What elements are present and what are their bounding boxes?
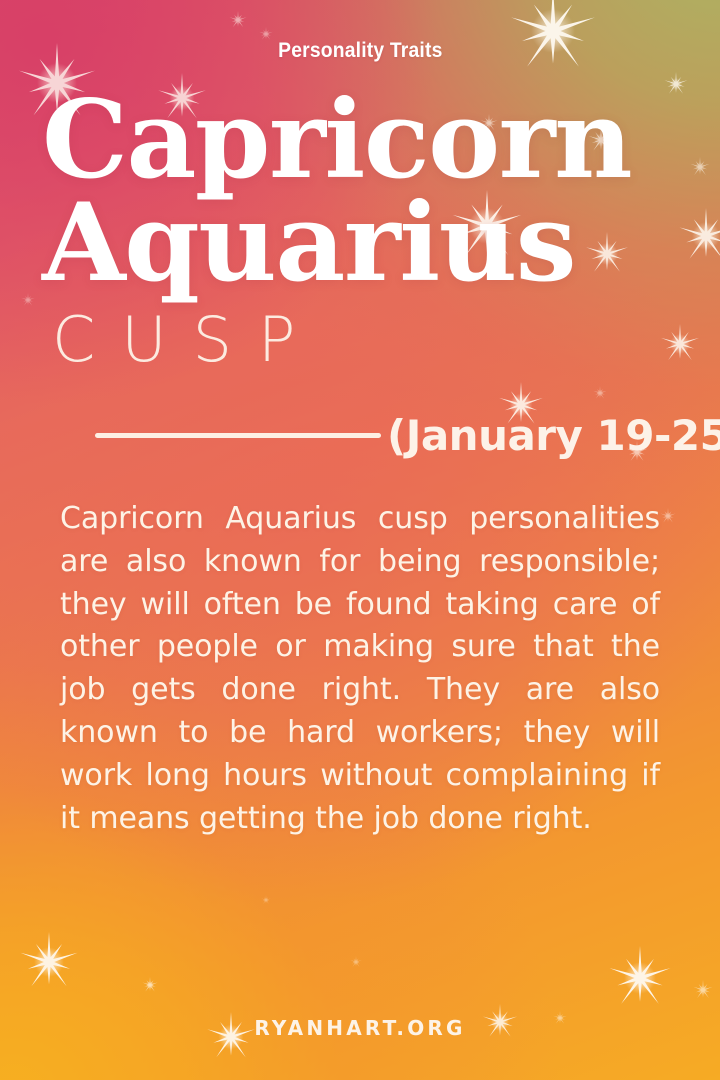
subtitle-cusp: CUSP: [52, 309, 321, 371]
zodiac-cusp-poster: Personality Traits Capricorn Aquarius CU…: [0, 0, 720, 1080]
title-line-aquarius: Aquarius: [42, 190, 720, 297]
title-line-capricorn: Capricorn: [42, 87, 720, 194]
eyebrow-label: Personality Traits: [278, 39, 442, 63]
poster-title: Capricorn Aquarius: [0, 87, 720, 297]
poster-content: Personality Traits Capricorn Aquarius CU…: [0, 0, 720, 1080]
date-range-row: (January 19-25): [0, 411, 720, 460]
horizontal-rule-divider: [95, 433, 381, 438]
date-range-label: (January 19-25): [387, 411, 720, 460]
body-paragraph: Capricorn Aquarius cusp personalities ar…: [60, 498, 660, 841]
footer-site-credit: RYANHART.ORG: [0, 1016, 720, 1040]
